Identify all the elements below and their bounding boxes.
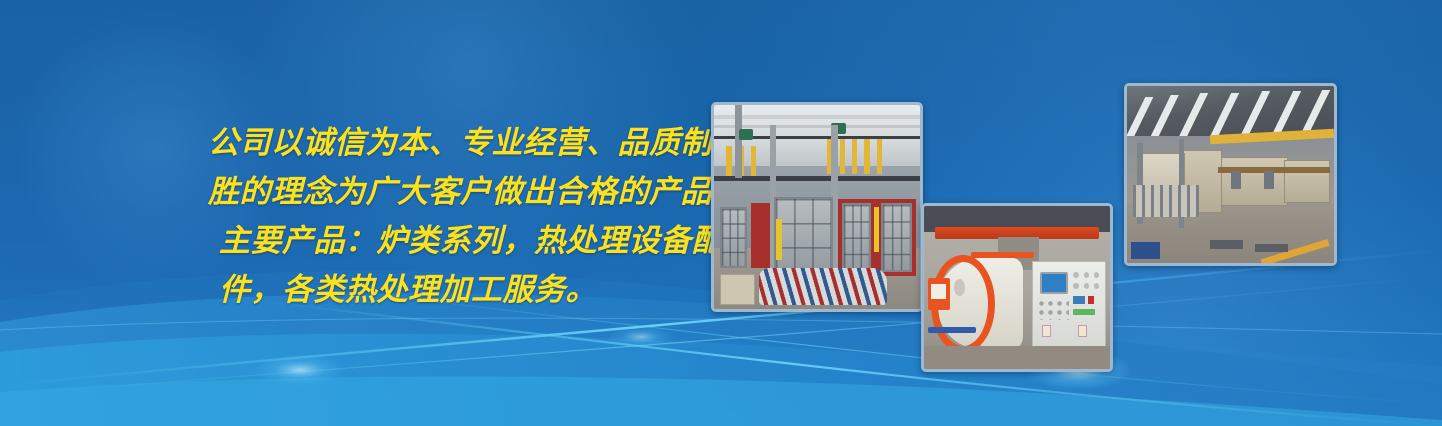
photo-continuous-furnace-line-image [1127,86,1334,263]
photo-continuous-furnace-line[interactable] [1124,83,1337,266]
company-intro-banner: 公司以诚信为本、专业经营、品质制 胜的理念为广大客户做出合格的产品。 主要产品：… [0,0,1442,426]
photo-vacuum-furnace-image [924,206,1110,369]
photo-vacuum-furnace[interactable] [921,203,1113,372]
copy-line-4: 件，各类热处理加工服务。 [208,265,728,314]
copy-line-2: 胜的理念为广大客户做出合格的产品。 [208,167,728,216]
photo-chamber-furnace-hall[interactable] [711,102,923,312]
copy-line-3: 主要产品：炉类系列，热处理设备配 [208,216,728,265]
intro-copy: 公司以诚信为本、专业经营、品质制 胜的理念为广大客户做出合格的产品。 主要产品：… [208,118,728,314]
copy-line-1: 公司以诚信为本、专业经营、品质制 [208,118,728,167]
photo-chamber-furnace-hall-image [714,105,920,309]
